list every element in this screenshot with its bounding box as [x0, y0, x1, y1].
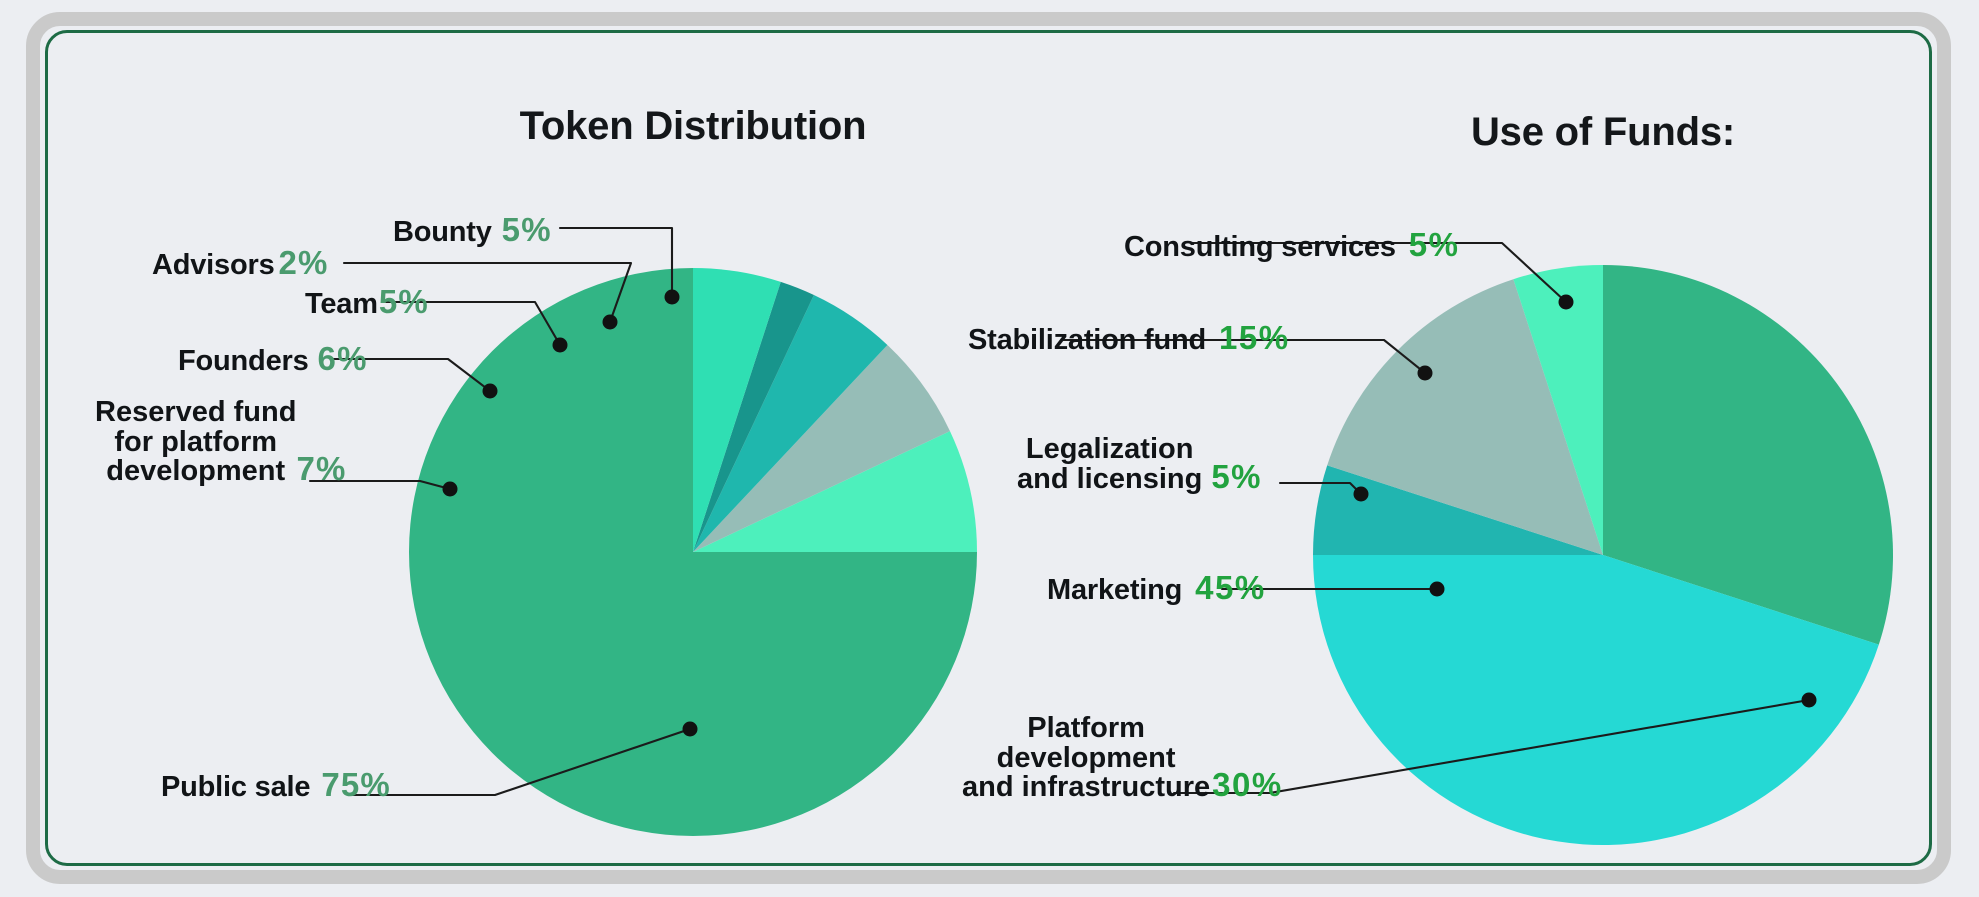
label-advisors-name: Advisors [152, 251, 275, 281]
label-advisors-pct: 2% [279, 246, 329, 280]
label-reserved-fund-pct: 7% [296, 452, 346, 487]
label-stabilization-fund[interactable]: Stabilization fund 15% [968, 321, 1290, 356]
label-founders-pct: 6% [318, 342, 368, 376]
label-reserved-fund-line3: development [106, 457, 285, 487]
label-advisors[interactable]: Advisors 2% [152, 246, 329, 281]
label-public-sale[interactable]: Public sale 75% [161, 768, 391, 803]
label-bounty-pct: 5% [502, 213, 552, 247]
label-reserved-fund-names: Reserved fund for platform development [95, 398, 296, 487]
label-reserved-fund-line1: Reserved fund [95, 398, 296, 428]
label-platform-development[interactable]: Platform development and infrastructure … [962, 714, 1283, 803]
label-bounty[interactable]: Bounty 5% [393, 213, 552, 248]
label-consulting-services-name: Consulting services [1124, 233, 1396, 263]
label-founders-name: Founders [178, 347, 309, 377]
label-public-sale-name: Public sale [161, 773, 310, 803]
label-legalization-line2: and licensing [1017, 465, 1202, 495]
label-legalization-pct: 5% [1211, 460, 1262, 495]
label-legalization-names: Legalization and licensing [1017, 435, 1202, 494]
label-consulting-services-pct: 5% [1409, 228, 1460, 262]
label-stabilization-fund-name: Stabilization fund [968, 326, 1206, 356]
chart-canvas: Token Distribution Use of Funds: Bounty … [0, 0, 1979, 897]
label-reserved-fund-line2: for platform [114, 428, 277, 458]
label-bounty-name: Bounty [393, 218, 492, 248]
label-platform-development-pct: 30% [1212, 768, 1283, 803]
label-stabilization-fund-pct: 15% [1219, 321, 1290, 355]
label-platform-development-line3: and infrastructure [962, 773, 1210, 803]
label-team-name: Team [305, 290, 378, 320]
label-marketing-name: Marketing [1047, 576, 1182, 606]
page-title-token-distribution: Token Distribution [520, 104, 867, 149]
label-consulting-services[interactable]: Consulting services 5% [1124, 228, 1460, 263]
label-platform-development-line2: development [997, 744, 1176, 774]
label-platform-development-line1: Platform [1027, 714, 1145, 744]
label-legalization-line1: Legalization [1026, 435, 1194, 465]
label-platform-development-names: Platform development and infrastructure [962, 714, 1210, 803]
page-title-use-of-funds: Use of Funds: [1471, 110, 1735, 155]
label-team[interactable]: Team 5% [305, 285, 429, 320]
label-founders[interactable]: Founders 6% [178, 342, 368, 377]
label-legalization[interactable]: Legalization and licensing 5% [1017, 435, 1262, 494]
label-team-pct: 5% [379, 285, 429, 319]
label-marketing-pct: 45% [1195, 571, 1266, 605]
label-reserved-fund[interactable]: Reserved fund for platform development 7… [95, 398, 347, 487]
label-marketing[interactable]: Marketing 45% [1047, 571, 1266, 606]
label-public-sale-pct: 75% [321, 768, 391, 802]
